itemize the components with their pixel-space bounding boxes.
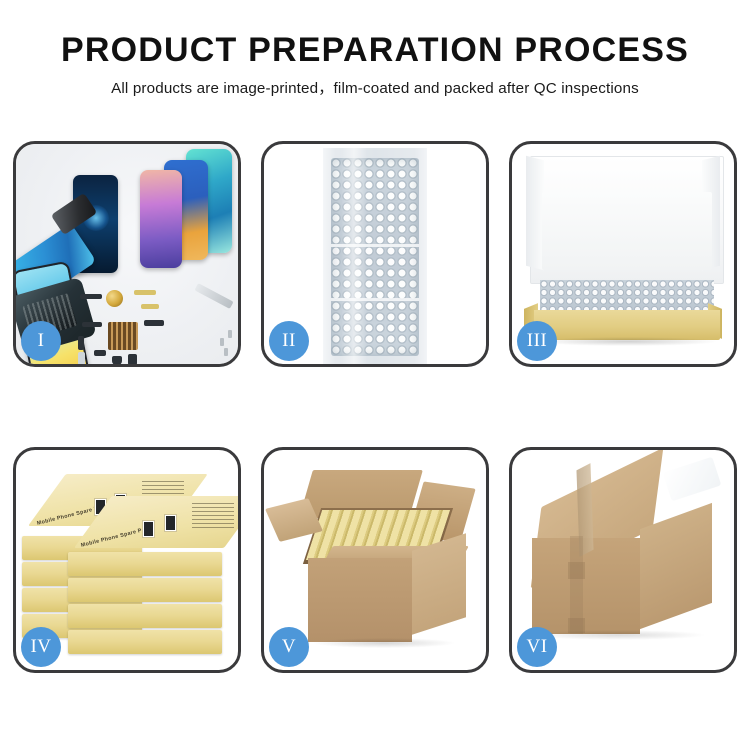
steps-grid: I II: [13, 141, 737, 682]
bubble-wrap-sheet-icon: [323, 148, 427, 364]
step-panel-1: I: [13, 141, 241, 367]
part-sim-tray-icon: [78, 352, 85, 364]
part-small-icon: [94, 350, 106, 356]
drop-shadow: [534, 630, 704, 640]
screw-3-icon: [224, 348, 228, 356]
page-title: PRODUCT PREPARATION PROCESS: [0, 30, 750, 70]
box-spec-lines-front: [192, 502, 234, 528]
step-panel-5: V: [261, 447, 489, 673]
bubble-wrap-gloss: [341, 148, 367, 364]
drop-shadow: [538, 337, 716, 346]
carton-front-face: [308, 558, 412, 642]
step-badge-4: IV: [21, 627, 61, 667]
gold-coil-part-icon: [106, 290, 123, 307]
header: PRODUCT PREPARATION PROCESS All products…: [0, 30, 750, 99]
part-flex-cable-2-icon: [141, 304, 159, 309]
part-speaker-icon: [80, 294, 102, 299]
screw-2-icon: [228, 330, 232, 338]
stack-box-f3: [68, 604, 222, 628]
part-connector-2-icon: [78, 336, 84, 350]
chip-grid-part-icon: [108, 322, 138, 350]
stack-box-f2: [68, 578, 222, 602]
mailer-box-front-icon: [534, 310, 720, 340]
step-badge-5: V: [269, 627, 309, 667]
step-panel-2: II: [261, 141, 489, 367]
part-camera-icon: [112, 356, 122, 364]
step-panel-3: III: [509, 141, 737, 367]
white-foam-sheet-icon: [542, 192, 712, 270]
product-preparation-infographic: PRODUCT PREPARATION PROCESS All products…: [0, 0, 750, 750]
plastic-film-icon: [663, 457, 722, 502]
part-connector-1-icon: [82, 322, 102, 327]
step-badge-2: II: [269, 321, 309, 361]
phone-purple-icon: [140, 170, 182, 268]
page-subtitle: All products are image-printed，film-coat…: [0, 79, 750, 99]
stack-box-f4: [68, 630, 222, 654]
box-screen-thumb-f2: [164, 514, 177, 532]
bubble-wrapped-contents-icon: [540, 280, 714, 312]
stack-box-f1: [68, 552, 222, 576]
step-badge-1: I: [21, 321, 61, 361]
step-badge-6: VI: [517, 627, 557, 667]
part-button-icon: [128, 354, 137, 364]
step-badge-3: III: [517, 321, 557, 361]
screw-1-icon: [220, 338, 224, 346]
drop-shadow: [314, 638, 454, 648]
carton-tab-upper: [568, 562, 585, 579]
carton-side-face: [412, 533, 466, 635]
part-connector-3-icon: [144, 320, 164, 326]
step-panel-4: Mobile Phone Spare Parts Mobile Phone Sp…: [13, 447, 241, 673]
step-panel-6: VI: [509, 447, 737, 673]
part-flex-cable-1-icon: [134, 290, 156, 295]
box-screen-thumb-f1: [142, 520, 155, 538]
